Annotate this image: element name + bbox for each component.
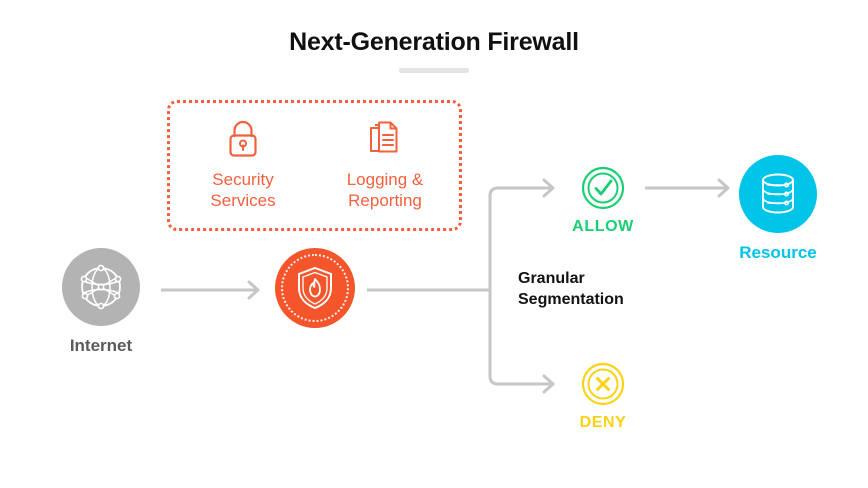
shield-flame-icon <box>294 265 336 311</box>
granular-segmentation-label: Granular Segmentation <box>518 268 698 310</box>
diagram-canvas: Next-Generation Firewall <box>0 0 868 488</box>
deny-circle <box>581 362 625 406</box>
resource-circle <box>739 155 817 233</box>
feature-logging-label: Logging & Reporting <box>325 169 445 211</box>
page-title: Next-Generation Firewall <box>0 28 868 57</box>
node-resource[interactable]: Resource <box>718 155 838 263</box>
feature-logging-reporting[interactable]: Logging & Reporting <box>325 117 445 211</box>
padlock-icon <box>183 117 303 161</box>
database-icon <box>756 171 800 217</box>
security-features-box: Security Services Logging & Reporting <box>167 100 462 231</box>
node-allow[interactable]: ALLOW <box>563 166 643 236</box>
x-circle-icon <box>581 362 625 406</box>
feature-logging-line1: Logging & <box>347 170 424 189</box>
arrow-internet-to-firewall <box>161 282 258 298</box>
granular-line2: Segmentation <box>518 291 624 308</box>
feature-security-label: Security Services <box>183 169 303 211</box>
granular-line1: Granular <box>518 270 585 287</box>
allow-circle <box>581 166 625 210</box>
check-circle-icon <box>581 166 625 210</box>
node-deny[interactable]: DENY <box>563 362 643 432</box>
node-internet[interactable]: Internet <box>41 248 161 356</box>
resource-label: Resource <box>718 243 838 263</box>
firewall-circle <box>275 248 355 328</box>
feature-security-line1: Security <box>212 170 273 189</box>
feature-security-services[interactable]: Security Services <box>183 117 303 211</box>
title-divider <box>399 68 469 73</box>
internet-label: Internet <box>41 336 161 356</box>
internet-circle <box>62 248 140 326</box>
documents-report-icon <box>325 117 445 161</box>
node-firewall[interactable] <box>273 248 357 338</box>
feature-logging-line2: Reporting <box>348 191 422 210</box>
feature-security-line2: Services <box>210 191 275 210</box>
arrow-allow-to-resource <box>645 180 728 196</box>
deny-label: DENY <box>563 414 643 432</box>
globe-network-icon <box>78 264 124 310</box>
allow-label: ALLOW <box>563 218 643 236</box>
